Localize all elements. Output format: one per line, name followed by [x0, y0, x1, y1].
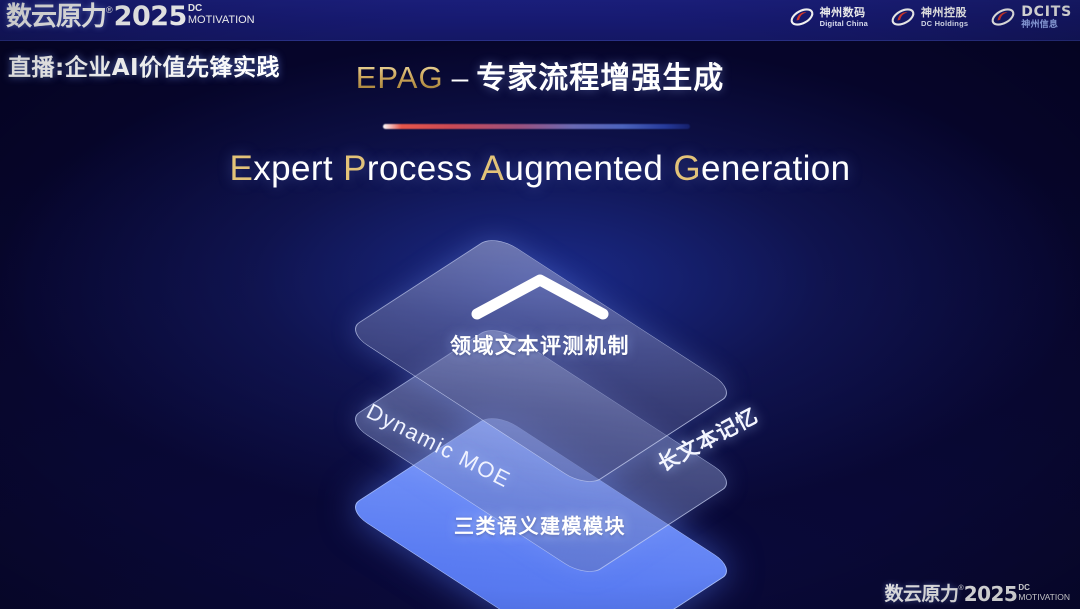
watermark-brand: 数云原力 ® 2025 DC MOTIVATION: [885, 583, 1071, 605]
watermark-dc-line1: DC: [1018, 584, 1070, 592]
swirl-logo-icon: [789, 4, 815, 30]
partner-name-cn: 神州数码: [820, 7, 868, 18]
layered-architecture-diagram: 领域文本评测机制 Dynamic MOE 长文本记忆 三类语义建模模块: [272, 212, 808, 592]
brand-dc-line1: DC: [188, 4, 255, 14]
watermark-name-cn: 数云原力: [885, 583, 959, 605]
partner-logo-digital-china: 神州数码 Digital China: [789, 4, 868, 30]
subtitle-cap-e: E: [229, 149, 253, 188]
watermark-dc-line2: MOTIVATION: [1018, 592, 1070, 602]
subtitle-cap-p: P: [343, 149, 367, 188]
brand-dc-motivation: DC MOTIVATION: [188, 4, 255, 26]
diagram-label-top: 领域文本评测机制: [272, 330, 808, 360]
subtitle-rest-generation: eneration: [701, 149, 851, 188]
brand-registered-mark: ®: [106, 4, 113, 16]
partner-logo-dc-holdings: 神州控股 DC Holdings: [890, 4, 968, 30]
brand-year: 2025: [114, 2, 187, 32]
partner-logo-text: DCITS 神州信息: [1021, 5, 1072, 30]
brand-lockup: 数云原力 ® 2025 DC MOTIVATION: [6, 2, 255, 32]
brand-name-cn: 数云原力: [6, 2, 106, 32]
partner-name-en: DC Holdings: [921, 20, 968, 28]
subtitle-cap-g: G: [673, 149, 701, 188]
partner-name-cn: DCITS: [1021, 5, 1072, 19]
title-acronym: EPAG: [356, 60, 444, 95]
subtitle-rest-process: rocess: [367, 149, 481, 188]
partner-name-en: Digital China: [820, 20, 868, 28]
title-dash: –: [452, 62, 469, 95]
partner-logo-dcits: DCITS 神州信息: [990, 4, 1072, 30]
swirl-logo-icon: [990, 4, 1016, 30]
subtitle-rest-expert: xpert: [253, 149, 343, 188]
subtitle-cap-a: A: [481, 149, 505, 188]
partner-logo-text: 神州数码 Digital China: [820, 7, 868, 28]
title-divider: [383, 124, 690, 129]
brand-dc-line2: MOTIVATION: [188, 14, 255, 26]
partner-logo-group: 神州数码 Digital China 神州控股 DC Holdings: [789, 4, 1072, 30]
partner-name-cn: 神州控股: [921, 7, 968, 18]
partner-name-en: 神州信息: [1021, 21, 1072, 30]
subtitle-rest-augmented: ugmented: [504, 149, 673, 188]
watermark-year: 2025: [964, 583, 1018, 605]
slide-canvas: 数云原力 ® 2025 DC MOTIVATION 直播:企业AI价值先锋实践 …: [0, 0, 1080, 609]
live-banner-text: 直播:企业AI价值先锋实践: [8, 48, 280, 82]
partner-logo-text: 神州控股 DC Holdings: [921, 7, 968, 28]
diagram-label-bottom: 三类语义建模模块: [272, 510, 808, 539]
watermark-dc-motivation: DC MOTIVATION: [1018, 584, 1070, 602]
swirl-logo-icon: [890, 4, 916, 30]
title-chinese: 专家流程增强生成: [476, 61, 724, 96]
slide-subtitle: Expert Process Augmented Generation: [0, 149, 1080, 189]
